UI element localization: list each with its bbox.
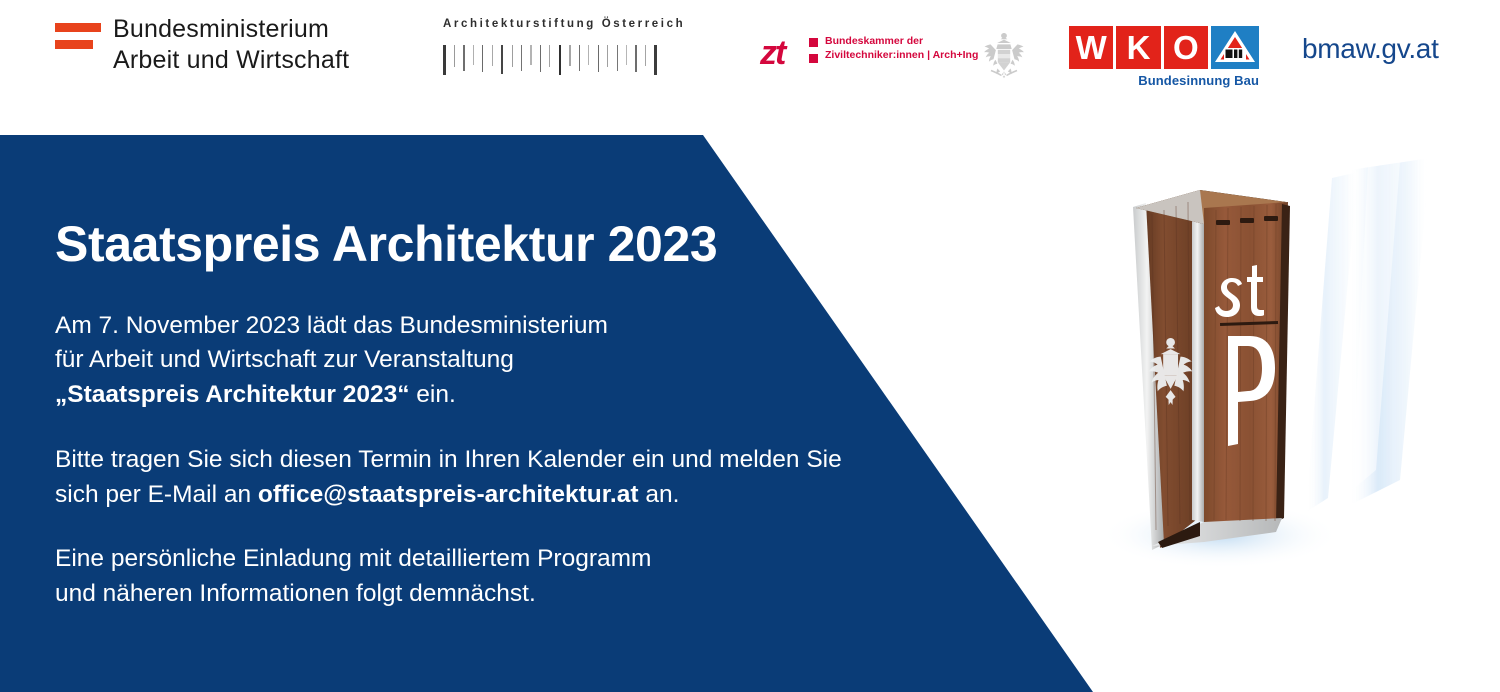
zt-bundeskammer-logo: zt Bundeskammer der Ziviltechniker:innen… bbox=[760, 28, 978, 70]
bmaw-site-url[interactable]: bmaw.gv.at bbox=[1302, 33, 1439, 65]
logo-bar: Bundesministerium Arbeit und Wirtschaft … bbox=[0, 0, 1500, 135]
zt-logo-wordmark: Bundeskammer der Ziviltechniker:innen | … bbox=[825, 34, 978, 62]
wko-letter-row: W K O bbox=[1069, 26, 1259, 69]
barcode-bars-icon bbox=[443, 45, 701, 75]
paragraph2-lead: sich per E-Mail an bbox=[55, 481, 258, 508]
paragraph2-line2: sich per E-Mail an office@staatspreis-ar… bbox=[55, 478, 955, 513]
invitation-banner: Bundesministerium Arbeit und Wirtschaft … bbox=[0, 0, 1500, 692]
zt-logo-line2: Ziviltechniker:innen | Arch+Ing bbox=[825, 48, 978, 62]
wko-subtitle: Bundesinnung Bau bbox=[1069, 73, 1259, 88]
architekturstiftung-logo-name: Architekturstiftung Österreich bbox=[443, 18, 701, 30]
bmaw-logo: Bundesministerium Arbeit und Wirtschaft bbox=[55, 14, 349, 75]
zt-mark-letters: zt bbox=[760, 36, 784, 70]
paragraph1-quoted-title: „Staatspreis Architektur 2023“ bbox=[55, 381, 410, 408]
staatspreis-trophy-image bbox=[1100, 150, 1500, 620]
paragraph3-line2: und näheren Informationen folgt demnächs… bbox=[55, 577, 955, 612]
paragraph3-line1: Eine persönliche Einladung mit detaillie… bbox=[55, 542, 955, 577]
bmaw-logo-line2: Arbeit und Wirtschaft bbox=[113, 45, 349, 76]
paragraph1-line1: Am 7. November 2023 lädt das Bundesminis… bbox=[55, 309, 955, 344]
wko-letter-w: W bbox=[1069, 26, 1113, 69]
paragraph1-line3: „Staatspreis Architektur 2023“ ein. bbox=[55, 378, 955, 413]
bmaw-logo-line1: Bundesministerium bbox=[113, 14, 349, 45]
paragraph1-line2: für Arbeit und Wirtschaft zur Veranstalt… bbox=[55, 343, 955, 378]
austrian-flag-icon bbox=[55, 18, 101, 58]
page-title: Staatspreis Architektur 2023 bbox=[55, 218, 955, 271]
wko-house-icon bbox=[1211, 26, 1259, 69]
paragraph1-line3-tail: ein. bbox=[410, 381, 456, 408]
invitation-content: Staatspreis Architektur 2023 Am 7. Novem… bbox=[55, 218, 955, 612]
zt-mark-icon: zt bbox=[760, 28, 818, 70]
wko-letter-k: K bbox=[1116, 26, 1160, 69]
architekturstiftung-logo: Architekturstiftung Österreich bbox=[443, 18, 701, 75]
contact-email-link[interactable]: office@staatspreis-architektur.at bbox=[258, 481, 639, 508]
austrian-federal-eagle-icon bbox=[977, 29, 1031, 83]
paragraph2-tail: an. bbox=[639, 481, 680, 508]
open-quote: „ bbox=[55, 381, 67, 408]
paragraph-followup: Eine persönliche Einladung mit detaillie… bbox=[55, 542, 955, 612]
paragraph-rsvp: Bitte tragen Sie sich diesen Termin in I… bbox=[55, 443, 955, 513]
paragraph2-line1: Bitte tragen Sie sich diesen Termin in I… bbox=[55, 443, 955, 478]
close-quote: “ bbox=[397, 381, 409, 408]
paragraph-event-announcement: Am 7. November 2023 lädt das Bundesminis… bbox=[55, 309, 955, 413]
wko-letter-o: O bbox=[1164, 26, 1208, 69]
zt-logo-line1: Bundeskammer der bbox=[825, 34, 978, 48]
wko-logo: W K O Bundesinnung Bau bbox=[1069, 26, 1259, 88]
bmaw-logo-wordmark: Bundesministerium Arbeit und Wirtschaft bbox=[113, 14, 349, 75]
quoted-title-text: Staatspreis Architektur 2023 bbox=[67, 381, 397, 408]
